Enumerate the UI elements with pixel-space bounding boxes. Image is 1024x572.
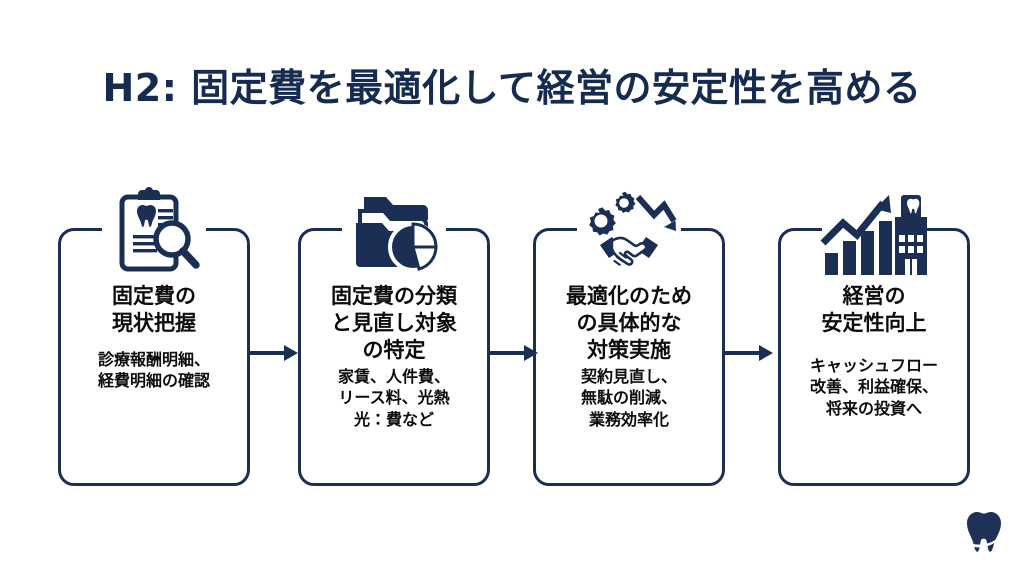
card-description: 契約見直し、 無駄の削減、 業務効率化	[542, 366, 716, 431]
card-body: 固定費の分類 と見直し対象 の特定 家賃、人件費、 リース料、光熱 光：費など	[301, 283, 487, 430]
page-title: H2: 固定費を最適化して経営の安定性を高める	[0, 66, 1024, 112]
arrow-right-icon	[725, 342, 777, 364]
card-description: キャッシュフロー 改善、利益確保、 将来の投資へ	[787, 355, 961, 420]
tooth-swoosh-logo	[954, 506, 1006, 558]
card-title: 最適化のため の具体的な 対策実施	[542, 283, 716, 364]
flow-step-card-1[interactable]: 固定費の 現状把握 診療報酬明細、 経費明細の確認	[58, 228, 250, 486]
card-title: 固定費の 現状把握	[67, 283, 241, 337]
card-body: 固定費の 現状把握 診療報酬明細、 経費明細の確認	[61, 283, 247, 392]
card-body: 経営の 安定性向上 キャッシュフロー 改善、利益確保、 将来の投資へ	[781, 283, 967, 420]
slide-canvas: H2: 固定費を最適化して経営の安定性を高める	[0, 0, 1024, 572]
card-top-notch	[577, 226, 681, 238]
arrow-right-icon	[490, 342, 542, 364]
flow-step-card-3[interactable]: 最適化のため の具体的な 対策実施 契約見直し、 無駄の削減、 業務効率化	[533, 228, 725, 486]
card-top-notch	[102, 226, 206, 238]
card-top-notch	[342, 226, 446, 238]
flow-step-card-2[interactable]: 固定費の分類 と見直し対象 の特定 家賃、人件費、 リース料、光熱 光：費など	[298, 228, 490, 486]
card-title: 経営の 安定性向上	[787, 283, 961, 337]
flow-step-card-4[interactable]: 経営の 安定性向上 キャッシュフロー 改善、利益確保、 将来の投資へ	[778, 228, 970, 486]
card-body: 最適化のため の具体的な 対策実施 契約見直し、 無駄の削減、 業務効率化	[536, 283, 722, 430]
card-title: 固定費の分類 と見直し対象 の特定	[307, 283, 481, 364]
process-flow: 固定費の 現状把握 診療報酬明細、 経費明細の確認	[0, 182, 1024, 492]
card-top-notch	[822, 226, 926, 238]
arrow-right-icon	[250, 342, 302, 364]
card-description: 家賃、人件費、 リース料、光熱 光：費など	[307, 366, 481, 431]
card-description: 診療報酬明細、 経費明細の確認	[67, 349, 241, 392]
